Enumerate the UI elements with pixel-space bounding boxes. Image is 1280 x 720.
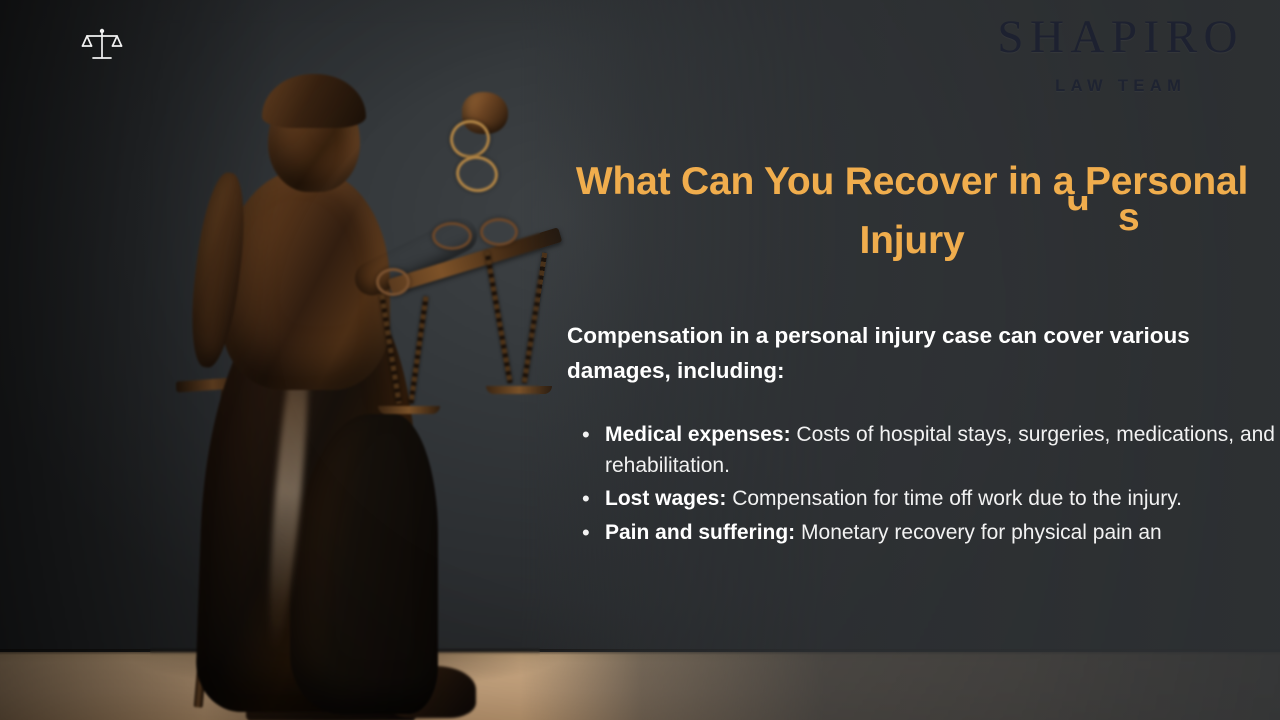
list-item-term: Lost wages: bbox=[605, 487, 726, 510]
list-item-term: Medical expenses: bbox=[605, 423, 791, 446]
page-title: What Can You Recover in a Personal Injur… bbox=[567, 152, 1257, 271]
list-item: Pain and suffering: Monetary recovery fo… bbox=[567, 518, 1280, 549]
list-item: Medical expenses: Costs of hospital stay… bbox=[567, 420, 1280, 481]
list-item-term: Pain and suffering: bbox=[605, 521, 795, 544]
scales-of-justice-icon bbox=[78, 22, 126, 70]
list-item: Lost wages: Compensation for time off wo… bbox=[567, 484, 1280, 515]
list-item-detail: Monetary recovery for physical pain an bbox=[795, 521, 1162, 544]
slide-canvas: SHAPIRO LAW TEAM u s What Can You Recove… bbox=[0, 0, 1280, 720]
content-column: u s What Can You Recover in a Personal I… bbox=[545, 0, 1280, 720]
damages-list: Medical expenses: Costs of hospital stay… bbox=[567, 420, 1280, 552]
intro-paragraph: Compensation in a personal injury case c… bbox=[567, 318, 1279, 388]
list-item-detail: Compensation for time off work due to th… bbox=[726, 487, 1182, 510]
